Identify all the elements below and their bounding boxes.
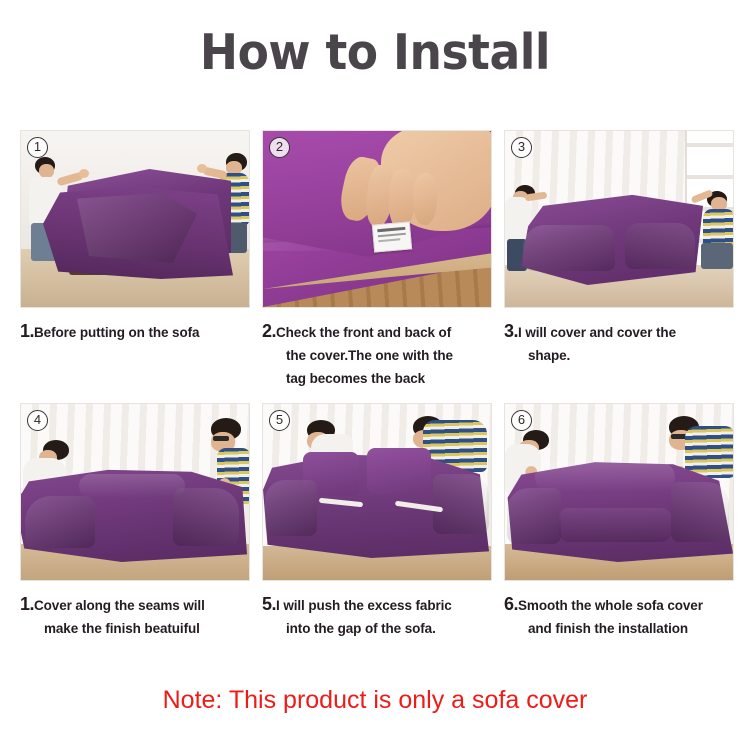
step-photo-5: 5	[262, 403, 492, 581]
cover-armrest-left	[25, 496, 95, 548]
person-left-hand	[79, 169, 89, 178]
step-badge-6: 6	[511, 410, 532, 431]
step-caption-line-1: Check the front and back of	[276, 325, 451, 340]
cover-seat	[559, 508, 671, 542]
step-cell-1: 1 1.Before putting on the sofa	[20, 130, 250, 390]
cover-armrest-right	[671, 482, 729, 542]
care-tag-line-1	[377, 227, 405, 232]
person-right-hand	[197, 164, 207, 173]
step-cell-2: 2 2.Check the front and back of the cove…	[262, 130, 492, 390]
step-caption-line-1: Cover along the seams will	[34, 598, 205, 613]
finger-little	[413, 173, 437, 225]
person-right-pants	[701, 243, 733, 269]
step-number-3: 3.	[504, 321, 518, 341]
how-to-install-page: How to Install	[0, 0, 750, 750]
step-photo-2: 2	[262, 130, 492, 308]
step-caption-line-1: I will push the excess fabric	[276, 598, 452, 613]
person-right-glasses	[213, 436, 229, 441]
step-caption-line-3: tag becomes the back	[262, 367, 492, 390]
step-photo-4: 4	[20, 403, 250, 581]
care-tag	[372, 221, 412, 252]
steps-row-bottom: 4 1.Cover along the seams will make the …	[20, 403, 734, 640]
cover-armrest-left	[507, 488, 561, 544]
step-cell-4: 4 1.Cover along the seams will make the …	[20, 403, 250, 640]
page-title: How to Install	[26, 24, 724, 82]
step-cell-5: 5 5.I will push the excess fabric into t…	[262, 403, 492, 640]
product-note: Note: This product is only a sofa cover	[0, 686, 750, 715]
cover-armrest-right	[625, 223, 695, 269]
steps-row-top: 1 1.Before putting on the sofa	[20, 130, 734, 390]
care-tag-line-3	[378, 238, 400, 242]
step-cell-6: 6 6.Smooth the whole sofa cover and fini…	[504, 403, 734, 640]
step-caption-3: 3.I will cover and cover the shape.	[504, 320, 734, 367]
cover-armrest-right	[173, 488, 239, 546]
step-caption-line-2: into the gap of the sofa.	[262, 617, 492, 640]
step-number-5: 5.	[262, 594, 276, 614]
cover-armrest-left	[523, 225, 615, 271]
cover-backrest-highlight	[79, 474, 185, 498]
step-photo-3: 3	[504, 130, 734, 308]
step-caption-line-2: shape.	[504, 344, 734, 367]
back-cushion-right	[367, 448, 431, 494]
cover-armrest-left	[265, 480, 317, 536]
step-caption-2: 2.Check the front and back of the cover.…	[262, 320, 492, 390]
step-caption-6: 6.Smooth the whole sofa cover and finish…	[504, 593, 734, 640]
step-caption-line-2: and finish the installation	[504, 617, 734, 640]
step-caption-line-1: I will cover and cover the	[518, 325, 676, 340]
step-cell-3: 3 3.I will cover and cover the shape.	[504, 130, 734, 390]
step-number-1: 1.	[20, 321, 34, 341]
person-right-shirt	[685, 426, 734, 478]
step-badge-2: 2	[269, 137, 290, 158]
step-number-6: 6.	[504, 594, 518, 614]
person-left-face	[39, 164, 54, 178]
cover-armrest-right	[433, 474, 489, 534]
step-number-4: 1.	[20, 594, 34, 614]
steps-grid: 1 1.Before putting on the sofa	[20, 130, 734, 640]
step-caption-line-2: the cover.The one with the	[262, 344, 492, 367]
step-number-2: 2.	[262, 321, 276, 341]
step-photo-1: 1	[20, 130, 250, 308]
step-caption-4: 1.Cover along the seams will make the fi…	[20, 593, 250, 640]
step-badge-5: 5	[269, 410, 290, 431]
step-photo-6: 6	[504, 403, 734, 581]
step-caption-line-1: Before putting on the sofa	[34, 325, 199, 340]
step-caption-1: 1.Before putting on the sofa	[20, 320, 250, 344]
cover-backrest-highlight	[535, 462, 675, 492]
care-tag-line-2	[378, 233, 406, 237]
step-badge-1: 1	[27, 137, 48, 158]
step-badge-3: 3	[511, 137, 532, 158]
step-caption-line-2: make the finish beatuiful	[20, 617, 250, 640]
step-badge-4: 4	[27, 410, 48, 431]
step-caption-line-1: Smooth the whole sofa cover	[518, 598, 703, 613]
step-caption-5: 5.I will push the excess fabric into the…	[262, 593, 492, 640]
